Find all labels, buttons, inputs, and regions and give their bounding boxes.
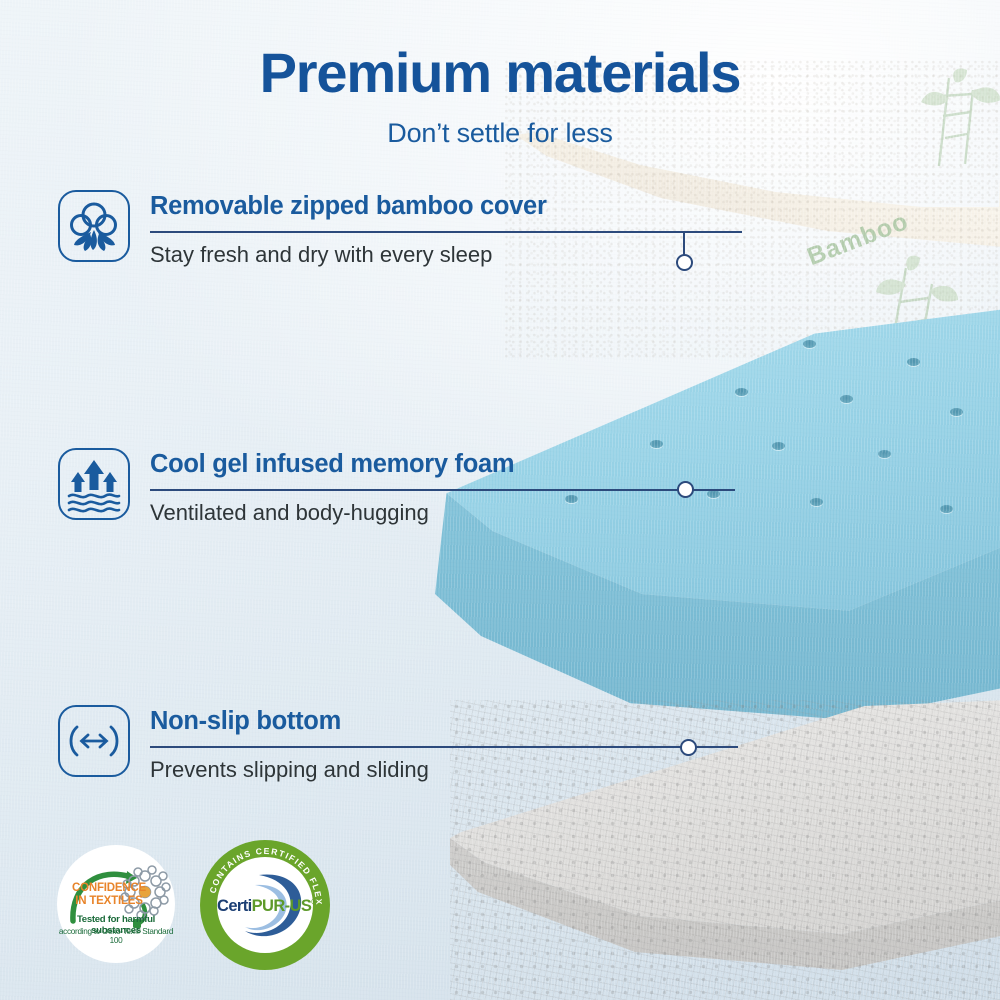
oeko-tex-badge: CONFIDENCE IN TEXTILES Tested for harmfu… — [57, 845, 175, 963]
feature-subtext: Ventilated and body-hugging — [150, 500, 429, 526]
feature-heading: Cool gel infused memory foam — [150, 450, 514, 479]
ventilation-hole — [735, 388, 748, 396]
ventilation-hole — [565, 495, 578, 503]
cotton-boll-icon-box — [58, 190, 130, 262]
ventilation-hole — [907, 358, 920, 366]
certipur-registered-mark: ® — [311, 898, 316, 907]
ventilation-hole — [650, 440, 663, 448]
feature-subtext: Stay fresh and dry with every sleep — [150, 242, 492, 268]
page-subtitle: Don’t settle for less — [0, 118, 1000, 149]
callout-dot — [677, 481, 694, 498]
page-title: Premium materials — [0, 40, 1000, 105]
ventilation-hole — [803, 340, 816, 348]
airflow-waves-icon-box — [58, 448, 130, 520]
horizontal-arrow-grip-icon — [60, 707, 128, 775]
certipur-wordmark: CertiPUR-US® — [217, 897, 313, 916]
callout-dot — [676, 254, 693, 271]
non-slip-base-layer — [450, 700, 1000, 1000]
certipur-word-certi: Certi — [217, 897, 252, 915]
cotton-boll-icon — [60, 192, 128, 260]
feature-divider — [150, 489, 735, 491]
oeko-tex-line1: CONFIDENCE — [72, 882, 146, 894]
callout-dot — [680, 739, 697, 756]
airflow-waves-icon — [60, 450, 128, 518]
ventilation-hole — [810, 498, 823, 506]
premium-materials-infographic: Bamboo — [0, 0, 1000, 1000]
gel-memory-foam-layer — [435, 300, 1000, 720]
feature-heading: Non-slip bottom — [150, 707, 341, 736]
ventilation-hole — [840, 395, 853, 403]
ventilation-hole — [940, 505, 953, 513]
ventilation-hole — [707, 490, 720, 498]
feature-divider — [150, 231, 742, 233]
certipur-us-badge: CONTAINS CERTIFIED FLEXIBLE POLYURETHANE… — [200, 840, 330, 970]
certipur-word-purus: PUR-US — [252, 897, 312, 915]
ventilation-hole — [950, 408, 963, 416]
feature-heading: Removable zipped bamboo cover — [150, 192, 547, 221]
horizontal-arrow-grip-icon-box — [58, 705, 130, 777]
ventilation-hole — [878, 450, 891, 458]
feature-subtext: Prevents slipping and sliding — [150, 757, 429, 783]
base-grip-texture — [450, 700, 1000, 1000]
certipur-inner-disc: CertiPUR-US® — [217, 857, 313, 953]
ventilation-hole — [772, 442, 785, 450]
oeko-tex-headline: CONFIDENCE IN TEXTILES — [57, 882, 161, 907]
oeko-tex-line4: according to Oeko-Tex® Standard 100 — [57, 927, 175, 945]
callout-segment-vertical — [683, 231, 685, 256]
oeko-tex-line2: IN TEXTILES — [75, 895, 142, 907]
feature-divider — [150, 746, 738, 748]
